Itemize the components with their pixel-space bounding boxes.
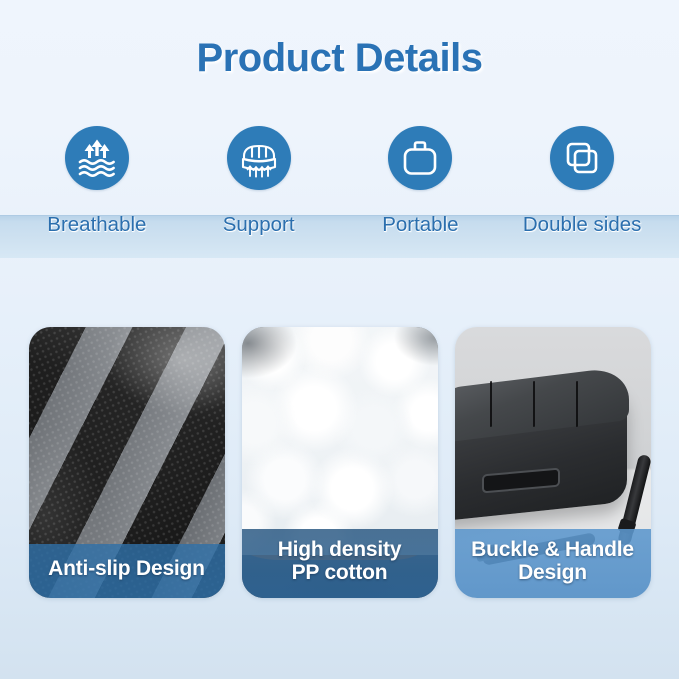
detail-card-caption: Buckle & Handle Design — [455, 529, 651, 598]
caption-line-1: Buckle & Handle — [461, 538, 645, 562]
detail-card-caption: High density PP cotton — [242, 529, 438, 598]
feature-item-portable[interactable]: Portable — [340, 126, 502, 266]
page-title: Product Details — [197, 36, 483, 81]
detail-card-list: Anti-slip Design High density PP cotton — [0, 327, 679, 602]
arrows-over-waves-icon — [65, 126, 129, 190]
detail-card-pp-cotton[interactable]: High density PP cotton — [242, 327, 438, 598]
caption-line-1: Anti-slip Design — [48, 557, 205, 580]
feature-item-breathable[interactable]: Breathable — [16, 126, 178, 266]
caption-line-2: PP cotton — [248, 561, 432, 585]
feature-label-double-sides: Double sides — [523, 213, 642, 237]
feature-label-breathable: Breathable — [47, 213, 146, 237]
feature-item-double-sides[interactable]: Double sides — [501, 126, 663, 266]
feature-label-support: Support — [223, 213, 295, 237]
cushion-support-icon — [227, 126, 291, 190]
caption-line-2: Design — [461, 561, 645, 585]
caption-line-1: High density — [248, 538, 432, 562]
feature-list: Breathable — [0, 126, 679, 266]
feature-label-portable: Portable — [382, 213, 458, 237]
detail-card-caption: Anti-slip Design — [29, 544, 225, 598]
page-header: Product Details — [0, 0, 679, 81]
briefcase-icon — [388, 126, 452, 190]
feature-item-support[interactable]: Support — [178, 126, 340, 266]
two-overlapping-squares-icon — [550, 126, 614, 190]
detail-card-anti-slip[interactable]: Anti-slip Design — [29, 327, 225, 598]
detail-card-buckle-handle[interactable]: Buckle & Handle Design — [455, 327, 651, 598]
